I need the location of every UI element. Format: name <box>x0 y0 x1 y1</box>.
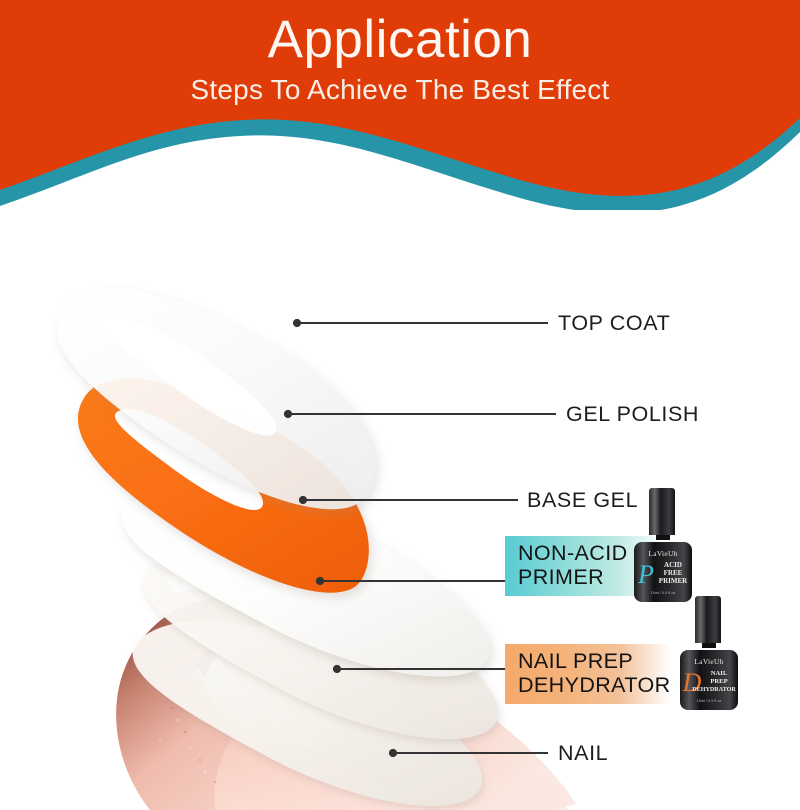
bottle-line3-dehydrator: DEHYDRATOR <box>692 687 736 693</box>
leader-non-acid-primer <box>316 577 505 585</box>
bottle-nail-prep-dehydrator: LaVieUh D NAIL PREP DEHYDRATOR 15ml / 0.… <box>672 594 744 716</box>
leader-base-gel <box>299 496 518 504</box>
leader-top-coat <box>293 319 548 327</box>
bottle-acid-free-primer: LaVieUh P ACID FREE PRIMER 15ml / 0.5 fl… <box>626 486 698 608</box>
leader-gel-polish <box>284 410 556 418</box>
bottle-volume-dehydrator: 15ml / 0.5 fl oz <box>697 699 722 703</box>
leader-nail-prep-dehydrator <box>333 665 505 673</box>
bottle-line2-primer: FREE <box>664 569 683 577</box>
leader-nail <box>389 749 548 757</box>
label-top-coat: TOP COAT <box>558 311 670 335</box>
label-nail-prep-dehydrator: NAIL PREP DEHYDRATOR <box>505 644 670 704</box>
bottle-line2-dehydrator: PREP <box>710 678 727 685</box>
infographic-canvas: Application Steps To Achieve The Best Ef… <box>0 0 800 800</box>
bottle-brand-dehydrator: LaVieUh <box>694 657 723 666</box>
bottle-line1-primer: ACID <box>664 561 682 569</box>
label-base-gel: BASE GEL <box>527 488 638 512</box>
bottle-line1-dehydrator: NAIL <box>711 670 728 677</box>
label-gel-polish: GEL POLISH <box>566 402 699 426</box>
bottle-brand-primer: LaVieUh <box>648 549 677 558</box>
bottle-initial-primer: P <box>637 560 654 589</box>
bottle-line3-primer: PRIMER <box>659 577 688 585</box>
label-nail: NAIL <box>558 741 608 765</box>
